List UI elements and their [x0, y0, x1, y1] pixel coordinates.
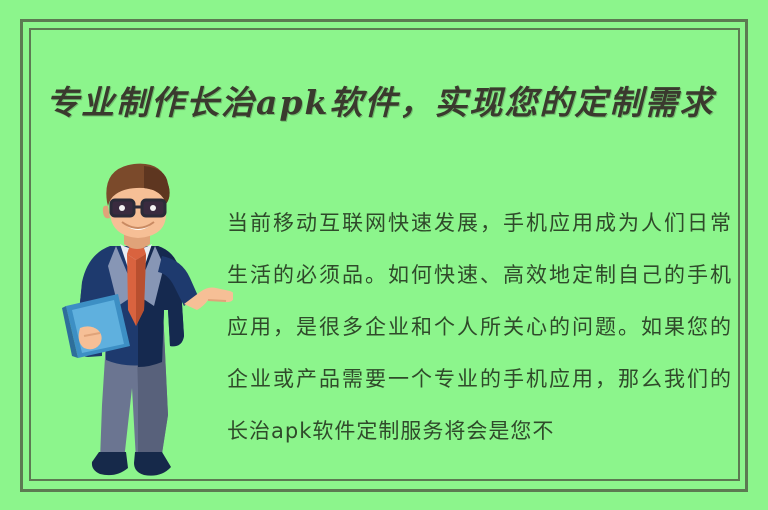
page-title: 专业制作长治apk软件，实现您的定制需求 — [46, 80, 736, 126]
body-paragraph: 当前移动互联网快速发展，手机应用成为人们日常生活的必须品。如何快速、高效地定制自… — [227, 197, 732, 457]
businessman-presenting-illustration — [58, 160, 233, 490]
banner-canvas: 专业制作长治apk软件，实现您的定制需求 当前移动互联网快速发展，手机应用成为人… — [0, 0, 768, 510]
shoes-shape — [92, 452, 171, 476]
